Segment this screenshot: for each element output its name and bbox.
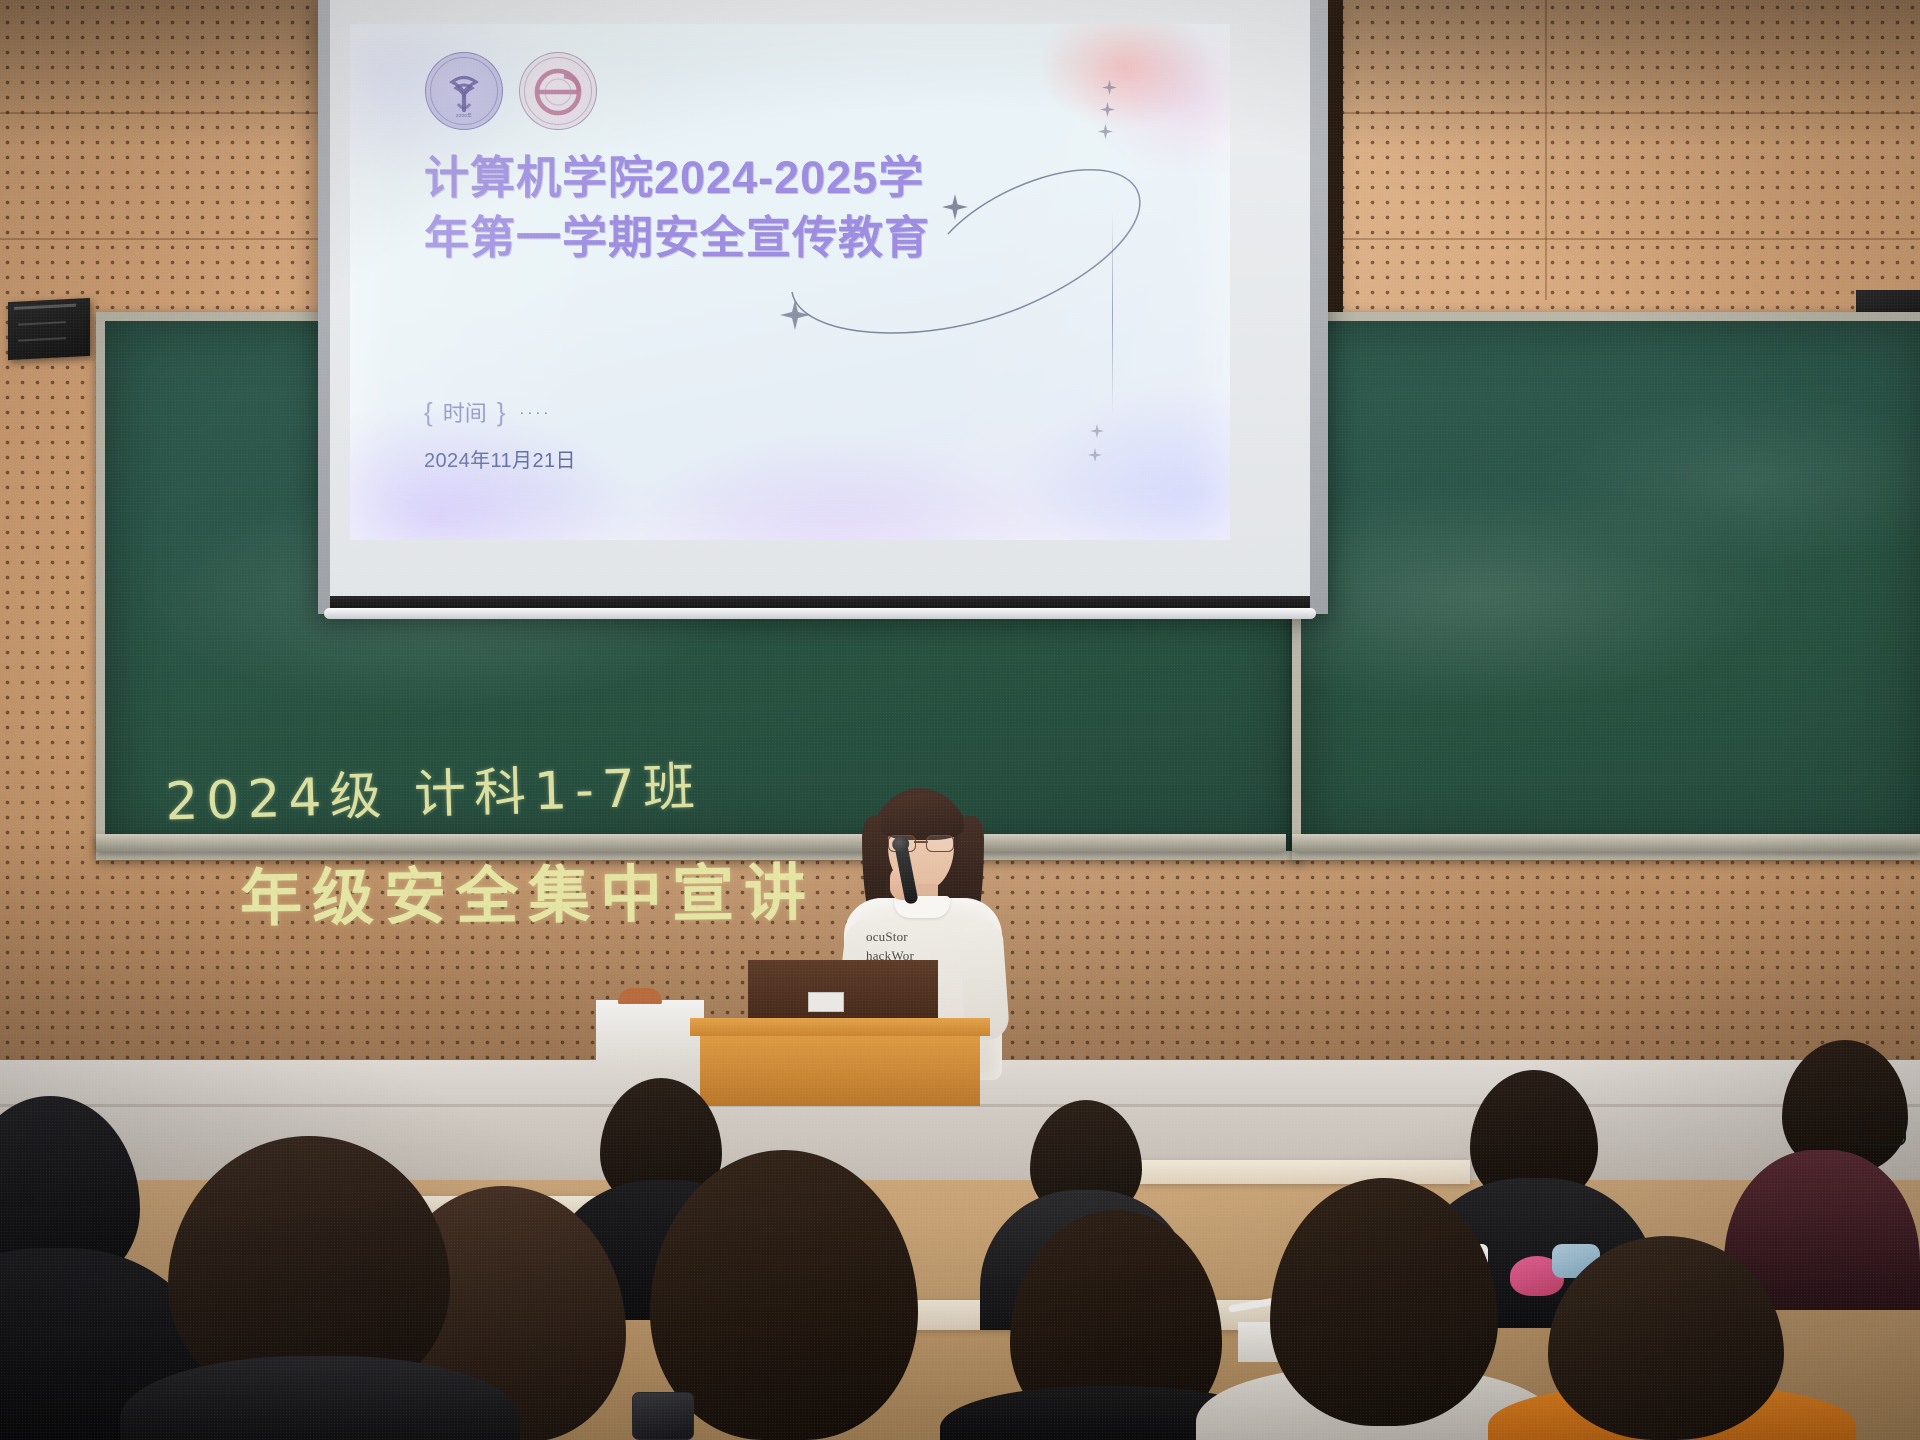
wall-speaker-icon	[8, 298, 90, 360]
screen-roller-tube	[324, 608, 1316, 619]
desk	[1140, 1160, 1470, 1184]
podium-top	[690, 1018, 990, 1036]
seal-year: 2000年	[425, 113, 503, 119]
slide-time-block: { 时间 } ···· 2024年11月21日	[424, 396, 576, 473]
smartphone	[632, 1392, 694, 1440]
sparkle-icon	[1102, 80, 1117, 95]
slide-logos: 2000年	[425, 52, 597, 130]
chalkboard-line-2: 年级安全集中宣讲	[240, 842, 817, 938]
chongqing-college-seal-icon: 2000年	[425, 52, 503, 130]
sparkle-icon	[1088, 448, 1102, 462]
presentation-slide: 2000年 计算机学院2024-2025学 年第一学期安全宣传教育 { 时间	[350, 24, 1230, 540]
podium-label	[808, 992, 844, 1012]
brace-open: {	[424, 397, 433, 428]
vertical-line-decoration	[1112, 210, 1113, 416]
brace-close: }	[497, 397, 506, 428]
chalkboard-right	[1292, 312, 1920, 860]
sparkle-icon	[942, 194, 968, 220]
slide-title: 计算机学院2024-2025学 年第一学期安全宣传教育	[424, 148, 1124, 269]
glasses-icon	[1856, 1118, 1906, 1146]
podium-side-cabinet	[596, 1000, 704, 1060]
sparkle-icon	[1100, 102, 1115, 117]
sparkle-icon	[1090, 424, 1104, 438]
podium-object	[618, 988, 662, 1004]
sweater-line: ocuStor	[866, 928, 990, 947]
sparkle-icon	[1098, 124, 1113, 139]
lecture-hall-photo: 2024级 计科1-7班 年级安全集中宣讲 2000年	[0, 0, 1920, 1440]
chalkboard-line-1: 2024级 计科1-7班	[164, 745, 704, 835]
podium-body	[700, 1036, 980, 1106]
time-label: 时间	[443, 396, 487, 428]
slide-title-line-1: 计算机学院2024-2025学	[424, 148, 1124, 208]
slide-date: 2024年11月21日	[424, 444, 576, 473]
sparkle-icon	[780, 300, 810, 330]
chalk-rail	[1292, 834, 1920, 852]
college-of-computer-science-seal-icon	[519, 52, 597, 130]
time-dots: ····	[519, 404, 551, 421]
slide-title-line-2: 年第一学期安全宣传教育	[424, 208, 1124, 268]
